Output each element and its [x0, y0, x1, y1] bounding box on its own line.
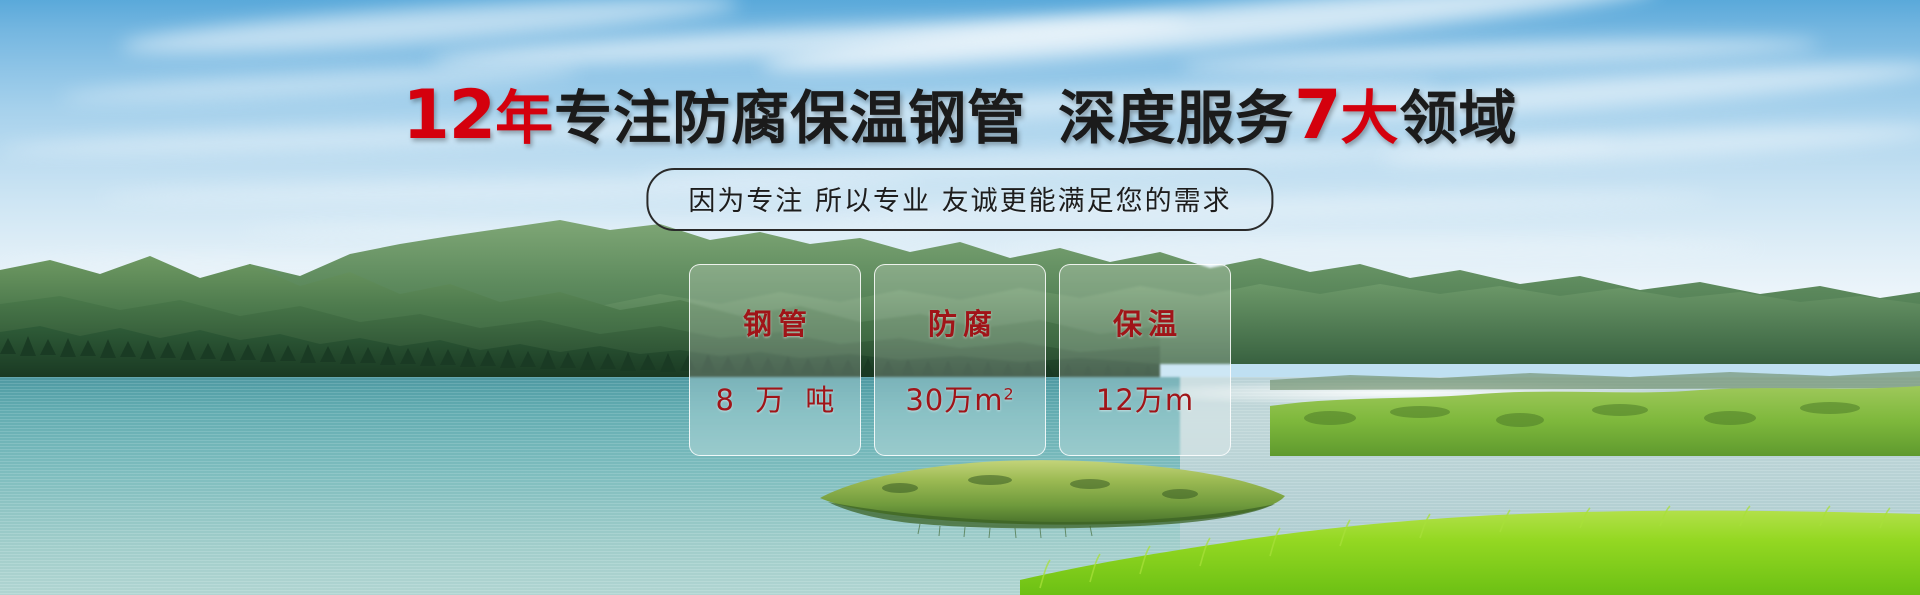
subtitle-pill: 因为专注 所以专业 友诚更能满足您的需求 — [646, 168, 1273, 231]
headline-domains-tail: 领域 — [1400, 84, 1518, 152]
hero-banner: 12年专注防腐保温钢管深度服务7大领域 因为专注 所以专业 友诚更能满足您的需求… — [0, 0, 1920, 595]
stat-label: 保温 — [1107, 301, 1183, 343]
headline-service-text: 深度服务 — [1058, 84, 1294, 152]
stat-value: 30万m2 — [905, 377, 1014, 419]
stat-label: 钢管 — [737, 301, 813, 343]
headline-years-number: 12 — [402, 76, 495, 155]
banner-content: 12年专注防腐保温钢管深度服务7大领域 因为专注 所以专业 友诚更能满足您的需求… — [0, 0, 1920, 595]
headline-main-text: 专注防腐保温钢管 — [554, 84, 1026, 152]
subtitle-text: 因为专注 所以专业 友诚更能满足您的需求 — [688, 186, 1231, 217]
stat-card-group: 钢管 8 万 吨 防腐 30万m2 保温 12万m — [689, 264, 1231, 456]
stat-value-superscript: 2 — [1003, 384, 1014, 403]
stat-label: 防腐 — [922, 301, 998, 343]
page-title: 12年专注防腐保温钢管深度服务7大领域 — [0, 84, 1920, 150]
stat-card-steel-pipe[interactable]: 钢管 8 万 吨 — [689, 264, 861, 456]
headline-domains-unit: 大 — [1340, 84, 1399, 152]
stat-card-insulation[interactable]: 保温 12万m — [1059, 264, 1231, 456]
stat-value-text: 30万m — [905, 383, 1003, 417]
stat-value-text: 8 万 吨 — [716, 383, 841, 417]
stat-card-anticorrosion[interactable]: 防腐 30万m2 — [874, 264, 1046, 456]
headline-domains-number: 7 — [1294, 76, 1340, 155]
headline-years-unit: 年 — [495, 84, 554, 152]
stat-value: 8 万 吨 — [710, 377, 841, 419]
stat-value: 12万m — [1096, 377, 1194, 419]
stat-value-text: 12万m — [1096, 383, 1194, 417]
